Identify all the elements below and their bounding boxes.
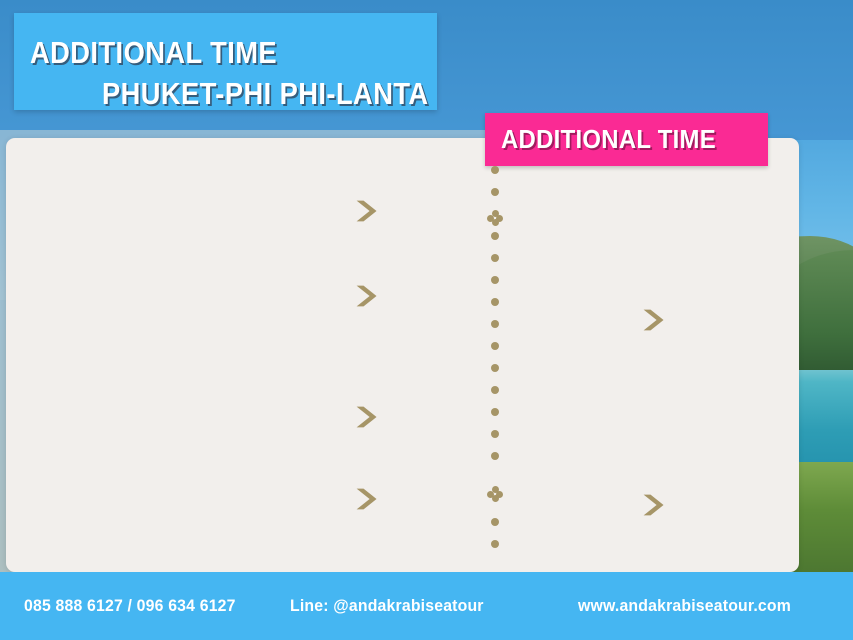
arrow-chevron-icon [639, 492, 669, 518]
divider-dot [491, 188, 499, 196]
footer-phone[interactable]: 085 888 6127 / 096 634 6127 [24, 596, 236, 616]
arrow-chevron-icon [352, 404, 382, 430]
divider-dot [491, 386, 499, 394]
divider-dot [491, 518, 499, 526]
route-arrow [352, 486, 382, 512]
divider-dot [491, 408, 499, 416]
divider-dot [491, 166, 499, 174]
arrow-chevron-icon [639, 307, 669, 333]
route-arrow [352, 198, 382, 224]
route-arrow [639, 307, 669, 333]
route-arrow [352, 404, 382, 430]
divider-dot [491, 364, 499, 372]
additional-time-banner-label: ADDITIONAL TIME [501, 124, 716, 155]
additional-time-banner: ADDITIONAL TIME [485, 113, 768, 166]
schedule-panel [6, 138, 799, 572]
footer-line-id[interactable]: Line: @andakrabiseatour [290, 596, 484, 616]
divider-dot-cluster [487, 210, 503, 226]
column-divider [487, 150, 503, 562]
divider-dot [491, 276, 499, 284]
divider-dot [491, 540, 499, 548]
divider-dot [491, 320, 499, 328]
header-title-band: ADDITIONAL TIME PHUKET-PHI PHI-LANTA [14, 13, 437, 110]
divider-dot [491, 298, 499, 306]
divider-dot [491, 342, 499, 350]
contact-footer: 085 888 6127 / 096 634 6127 Line: @andak… [0, 572, 853, 640]
page-title-line2: PHUKET-PHI PHI-LANTA [102, 76, 429, 112]
divider-dot-cluster [487, 486, 503, 502]
arrow-chevron-icon [352, 198, 382, 224]
divider-dot [491, 254, 499, 262]
page-title-line1: ADDITIONAL TIME [30, 35, 277, 71]
divider-dot [491, 430, 499, 438]
divider-dot [491, 232, 499, 240]
route-arrow [352, 283, 382, 309]
route-arrow [639, 492, 669, 518]
arrow-chevron-icon [352, 486, 382, 512]
arrow-chevron-icon [352, 283, 382, 309]
divider-dot [491, 452, 499, 460]
footer-website[interactable]: www.andakrabiseatour.com [578, 596, 791, 616]
